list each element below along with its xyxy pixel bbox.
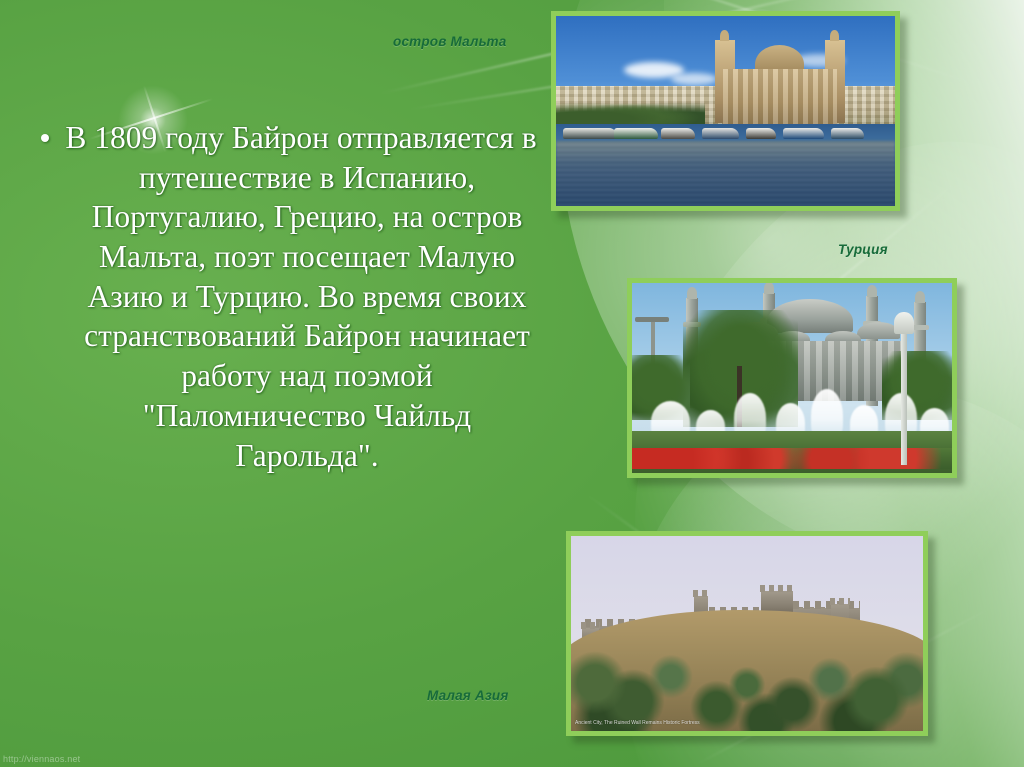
caption-asia-minor: Малая Азия <box>427 688 509 703</box>
presentation-slide: В 1809 году Байрон отправляется в путеше… <box>0 0 1024 767</box>
boats-shape <box>556 121 895 142</box>
photo-credit: Ancient City, The Ruined Wall Remains Hi… <box>575 720 700 728</box>
body-paragraph: В 1809 году Байрон отправляется в путеше… <box>65 120 536 473</box>
photo-turkey-image <box>632 283 952 473</box>
bullet-icon <box>41 134 49 142</box>
caption-malta: остров Мальта <box>393 34 506 49</box>
photo-asia-minor[interactable]: Ancient City, The Ruined Wall Remains Hi… <box>566 531 928 736</box>
photo-malta[interactable] <box>551 11 900 211</box>
photo-malta-image <box>556 16 895 206</box>
photo-turkey[interactable] <box>627 278 957 478</box>
caption-turkey: Турция <box>838 242 888 257</box>
photo-asia-minor-image: Ancient City, The Ruined Wall Remains Hi… <box>571 536 923 731</box>
slide-body-text: В 1809 году Байрон отправляется в путеше… <box>72 118 542 475</box>
source-watermark: http://viennaos.net <box>3 754 80 764</box>
church-shape <box>712 35 848 130</box>
street-lamp-shape <box>901 332 907 465</box>
